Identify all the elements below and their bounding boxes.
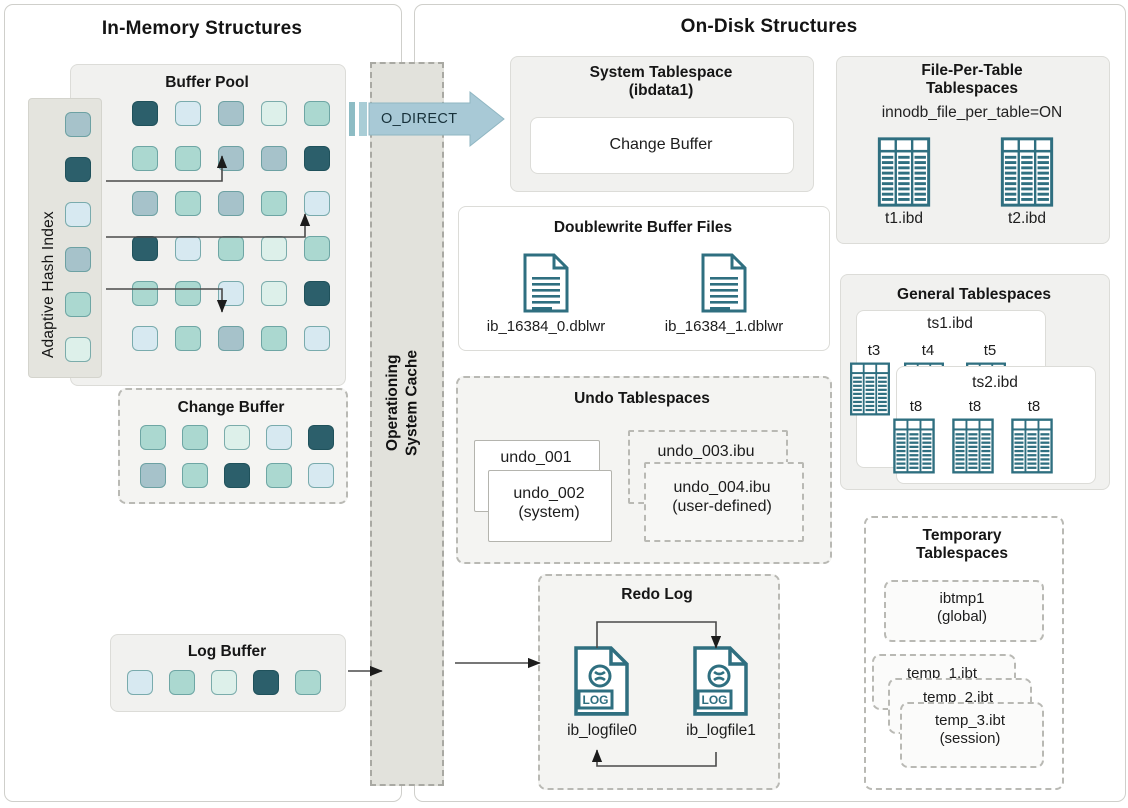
buffer-pool-page (218, 281, 244, 306)
buffer-pool-page (132, 101, 158, 126)
buffer-pool-page (132, 281, 158, 306)
change-buffer-page (224, 463, 250, 488)
general-tablespace-ts2-table-label: t8 (1006, 398, 1062, 416)
tablespace-table-icon (890, 419, 938, 473)
temporary-tablespaces-title-line2: Tablespaces (916, 545, 1008, 562)
in-memory-panel-title: In-Memory Structures (4, 18, 400, 40)
undo-002-line2: (system) (518, 504, 579, 521)
operating-system-cache-label: Operationing System Cache (383, 350, 429, 456)
ibtmp1-line2: (global) (937, 608, 987, 625)
tablespace-table-icon (1008, 419, 1056, 473)
general-tablespace-ts2-name: ts2.ibd (896, 374, 1094, 393)
innodb-architecture-diagram: In-Memory Structures Buffer Pool Adaptiv… (0, 0, 1128, 808)
temp-3-label: temp_3.ibt (session) (900, 712, 1040, 748)
file-per-table-title-line2: Tablespaces (926, 80, 1018, 97)
undo-002-line1: undo_002 (513, 485, 584, 502)
buffer-pool-page (132, 326, 158, 351)
general-tablespaces-title: General Tablespaces (840, 286, 1108, 304)
ibtmp1-label: ibtmp1 (global) (884, 590, 1040, 626)
file-per-table-label: t2.ibd (977, 210, 1077, 229)
buffer-pool-page (304, 146, 330, 171)
file-per-table-title-line1: File-Per-Table (921, 62, 1022, 79)
ibtmp1-line1: ibtmp1 (939, 590, 984, 607)
general-tablespace-ts2-table-label: t8 (947, 398, 1003, 416)
buffer-pool-page (175, 191, 201, 216)
buffer-pool-page (261, 326, 287, 351)
general-tablespace-ts1-table-label: t5 (962, 342, 1018, 360)
file-per-table-label: t1.ibd (854, 210, 954, 229)
change-buffer-page (140, 463, 166, 488)
tablespace-table-icon (848, 363, 892, 415)
buffer-pool-page (261, 191, 287, 216)
buffer-pool-page (304, 236, 330, 261)
general-tablespace-ts1-table-label: t4 (900, 342, 956, 360)
change-buffer-page (308, 425, 334, 450)
adaptive-hash-index-entry (65, 292, 91, 317)
buffer-pool-page (175, 281, 201, 306)
change-buffer-page (266, 463, 292, 488)
temporary-tablespaces-title-line1: Temporary (923, 527, 1002, 544)
tablespace-table-icon (949, 419, 997, 473)
buffer-pool-page (218, 101, 244, 126)
buffer-pool-page (175, 326, 201, 351)
redo-log-title: Redo Log (538, 586, 776, 604)
system-tablespace-title-line1: System Tablespace (590, 64, 733, 81)
buffer-pool-page (175, 101, 201, 126)
log-buffer-entry (253, 670, 279, 695)
system-tablespace-change-buffer-label: Change Buffer (530, 135, 792, 154)
adaptive-hash-index-entry (65, 112, 91, 137)
file-per-table-title: File-Per-Table Tablespaces (836, 62, 1108, 99)
buffer-pool-page (132, 146, 158, 171)
buffer-pool-page (261, 146, 287, 171)
doublewrite-file-label: ib_16384_1.dblwr (648, 318, 800, 336)
adaptive-hash-index-entry (65, 337, 91, 362)
undo-tablespaces-title: Undo Tablespaces (456, 390, 828, 408)
general-tablespace-ts1-name: ts1.ibd (856, 315, 1044, 334)
buffer-pool-title: Buffer Pool (70, 74, 344, 92)
log-buffer-entry (211, 670, 237, 695)
undo-001-label: undo_001 (474, 448, 598, 467)
buffer-pool-page (218, 326, 244, 351)
buffer-pool-page (218, 146, 244, 171)
undo-004-line1: undo_004.ibu (674, 479, 771, 496)
system-tablespace-title: System Tablespace (ibdata1) (510, 64, 812, 101)
adaptive-hash-index-label: Adaptive Hash Index (40, 118, 58, 358)
buffer-pool-page (304, 281, 330, 306)
adaptive-hash-index-entry (65, 202, 91, 227)
buffer-pool-page (218, 191, 244, 216)
odirect-label: O_DIRECT (381, 111, 458, 127)
buffer-pool-page (218, 236, 244, 261)
adaptive-hash-index-entry (65, 157, 91, 182)
undo-003-label: undo_003.ibu (628, 442, 784, 461)
log-buffer-entry (169, 670, 195, 695)
general-tablespace-ts2-table-label: t8 (888, 398, 944, 416)
buffer-pool-page (261, 101, 287, 126)
undo-004-label: undo_004.ibu (user-defined) (644, 478, 800, 516)
on-disk-panel-title: On-Disk Structures (414, 16, 1124, 38)
redo-log-file-icon: LOG (573, 646, 631, 718)
change-buffer-page (182, 425, 208, 450)
buffer-pool-page (132, 236, 158, 261)
log-badge-text: LOG (702, 693, 728, 707)
system-tablespace-title-line2: (ibdata1) (629, 82, 694, 99)
buffer-pool-page (175, 146, 201, 171)
redo-log-file-label: ib_logfile1 (666, 722, 776, 741)
buffer-pool-page (304, 101, 330, 126)
tablespace-table-icon (865, 138, 943, 206)
change-buffer-page (140, 425, 166, 450)
change-buffer-page (224, 425, 250, 450)
buffer-pool-page (304, 191, 330, 216)
change-buffer-page (308, 463, 334, 488)
undo-002-label: undo_002 (system) (488, 484, 610, 522)
general-tablespace-ts1-table-label: t3 (846, 342, 902, 360)
redo-log-file-label: ib_logfile0 (547, 722, 657, 741)
tablespace-table-icon (988, 138, 1066, 206)
log-badge-text: LOG (583, 693, 609, 707)
buffer-pool-page (261, 236, 287, 261)
doublewrite-file-icon (522, 252, 570, 314)
temp-3-line1: temp_3.ibt (935, 712, 1005, 729)
change-buffer-title: Change Buffer (118, 399, 344, 417)
doublewrite-file-icon (700, 252, 748, 314)
buffer-pool-page (261, 281, 287, 306)
doublewrite-file-label: ib_16384_0.dblwr (470, 318, 622, 336)
adaptive-hash-index-entry (65, 247, 91, 272)
doublewrite-title: Doublewrite Buffer Files (458, 219, 828, 237)
temporary-tablespaces-title: Temporary Tablespaces (864, 527, 1060, 564)
buffer-pool-page (175, 236, 201, 261)
file-per-table-setting: innodb_file_per_table=ON (836, 104, 1108, 122)
redo-log-file-icon: LOG (692, 646, 750, 718)
change-buffer-page (182, 463, 208, 488)
log-buffer-entry (127, 670, 153, 695)
buffer-pool-page (132, 191, 158, 216)
buffer-pool-page (304, 326, 330, 351)
undo-004-line2: (user-defined) (672, 498, 772, 515)
temp-3-line2: (session) (940, 730, 1001, 747)
log-buffer-entry (295, 670, 321, 695)
log-buffer-title: Log Buffer (110, 643, 344, 661)
change-buffer-page (266, 425, 292, 450)
